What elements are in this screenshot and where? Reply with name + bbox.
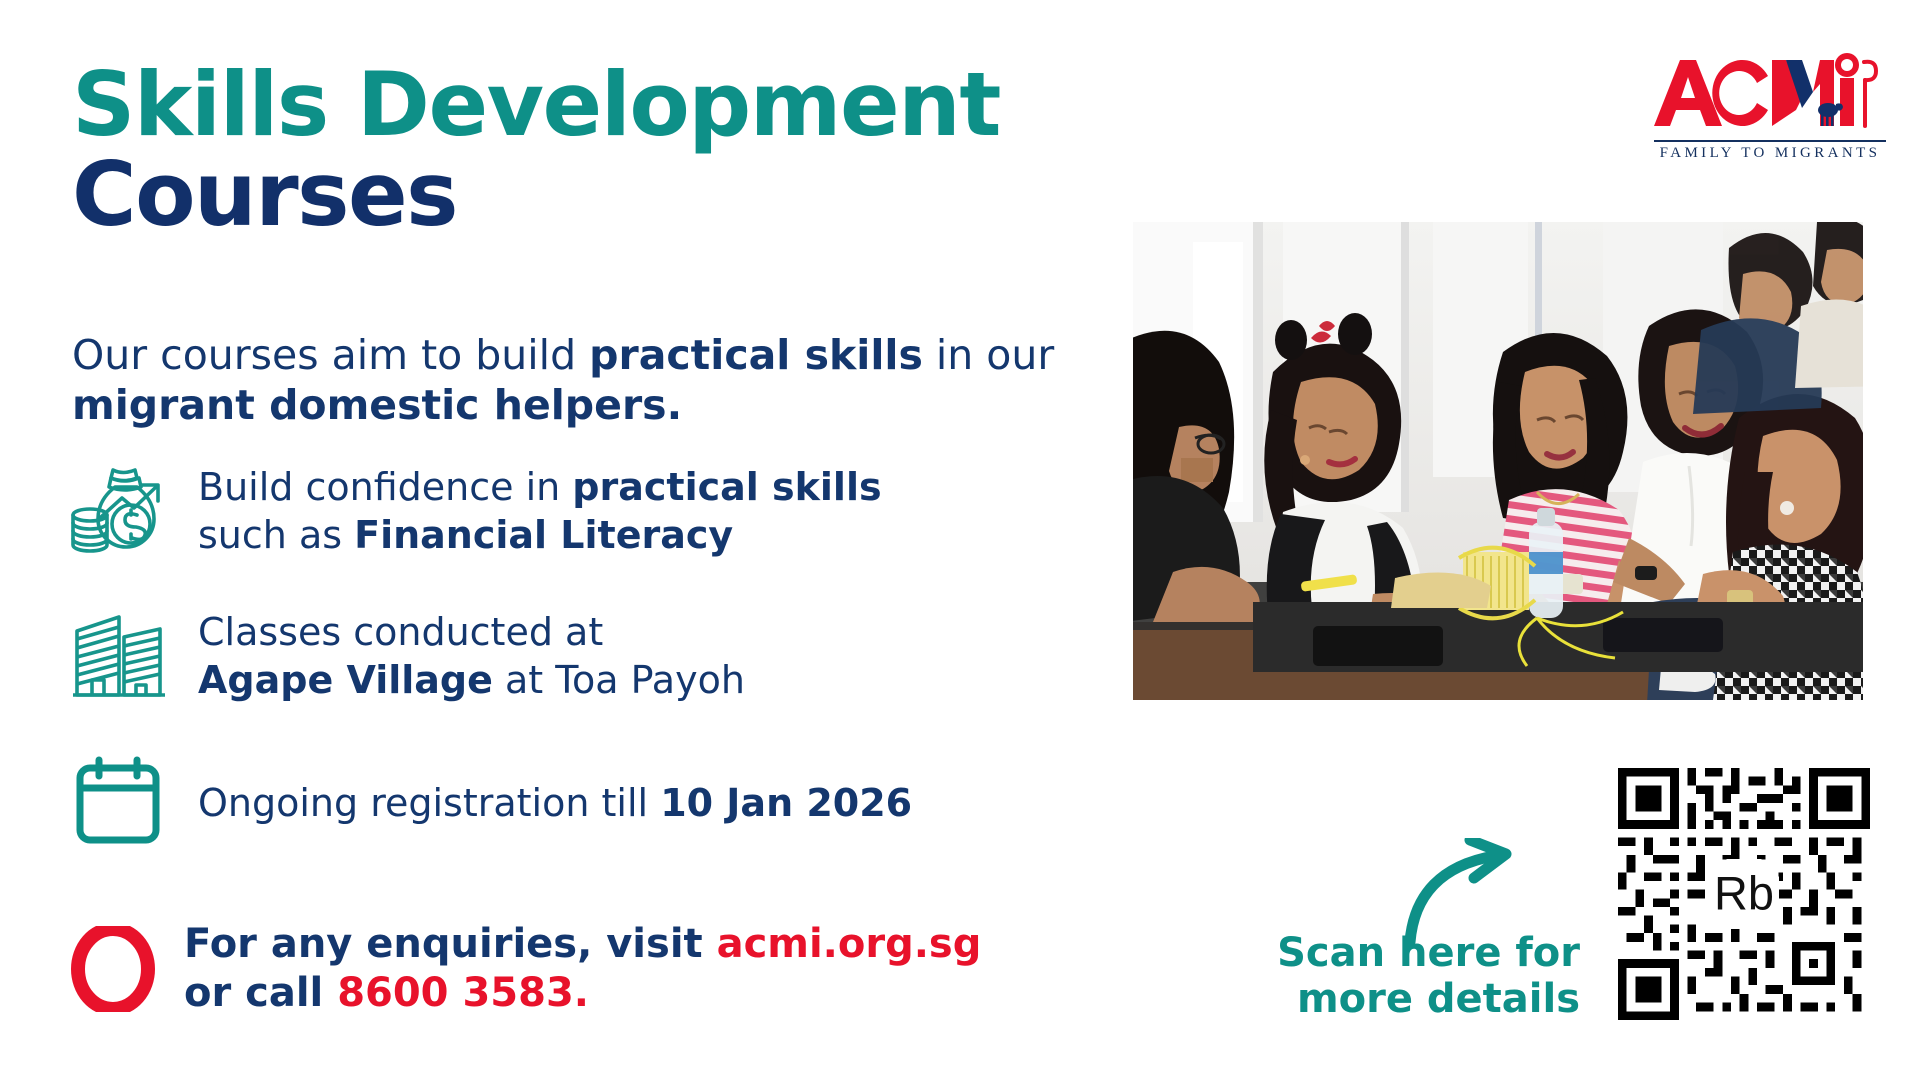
scan-label-line1: Scan here for	[1180, 930, 1580, 976]
benefit-item-location: Classes conducted at Agape Village at To…	[68, 605, 745, 709]
title-line-2: Courses	[72, 152, 1132, 238]
benefit-1-line1-plain: Build confidence in	[198, 465, 572, 509]
benefit-text-financial-literacy: Build confidence in practical skills suc…	[198, 460, 882, 560]
intro-bold-1: practical skills	[589, 331, 923, 379]
benefit-3-line1-plain: Ongoing registration till	[198, 781, 660, 825]
money-bag-growth-icon	[68, 460, 172, 564]
scan-cta-label: Scan here for more details	[1180, 930, 1580, 1022]
scan-label-line2: more details	[1180, 976, 1580, 1022]
benefit-item-financial-literacy: Build confidence in practical skills suc…	[68, 460, 882, 564]
poster-canvas: FAMILY TO MIGRANTS Skills Development Co…	[0, 0, 1920, 1080]
contact-line1-plain: For any enquiries, visit	[184, 921, 717, 967]
phone-number[interactable]: 8600 3583.	[337, 970, 589, 1016]
contact-block: For any enquiries, visit acmi.org.sg or …	[70, 920, 981, 1018]
benefit-3-line1-bold: 10 Jan 2026	[660, 781, 912, 825]
benefit-2-line2-bold: Agape Village	[198, 658, 493, 702]
contact-text: For any enquiries, visit acmi.org.sg or …	[184, 920, 981, 1018]
contact-line2-plain: or call	[184, 970, 337, 1016]
intro-text-1: Our courses aim to build	[72, 331, 589, 379]
acmi-logo: FAMILY TO MIGRANTS	[1650, 48, 1890, 168]
benefit-2-line2-plain: at Toa Payoh	[493, 658, 745, 702]
classroom-photo	[1133, 222, 1863, 700]
title-line-1: Skills Development	[72, 62, 1132, 148]
benefit-1-line2-bold: Financial Literacy	[354, 513, 733, 557]
intro-paragraph: Our courses aim to build practical skill…	[72, 330, 1082, 430]
intro-bold-2: migrant domestic helpers.	[72, 381, 682, 429]
logo-tagline: FAMILY TO MIGRANTS	[1650, 145, 1890, 162]
benefit-1-line2-plain: such as	[198, 513, 354, 557]
qr-code-matrix[interactable]: Rb	[1618, 768, 1870, 1020]
buildings-icon	[68, 605, 172, 709]
logo-divider	[1654, 140, 1886, 142]
red-ring-icon	[70, 926, 156, 1012]
website-link[interactable]: acmi.org.sg	[717, 921, 982, 967]
page-title: Skills Development Courses	[72, 62, 1132, 238]
benefit-item-registration: Ongoing registration till 10 Jan 2026	[68, 752, 912, 856]
benefit-text-registration: Ongoing registration till 10 Jan 2026	[198, 780, 912, 828]
acmi-logo-mark	[1650, 48, 1890, 138]
benefit-1-line1-bold: practical skills	[572, 465, 881, 509]
qr-code[interactable]: Rb	[1618, 768, 1870, 1020]
benefit-2-line1-plain: Classes conducted at	[198, 610, 603, 654]
classroom-photo-illustration	[1133, 222, 1863, 700]
calendar-icon	[68, 752, 172, 856]
intro-text-2: in our	[923, 331, 1054, 379]
benefit-text-location: Classes conducted at Agape Village at To…	[198, 605, 745, 705]
qr-center-brand: Rb	[1714, 868, 1774, 920]
